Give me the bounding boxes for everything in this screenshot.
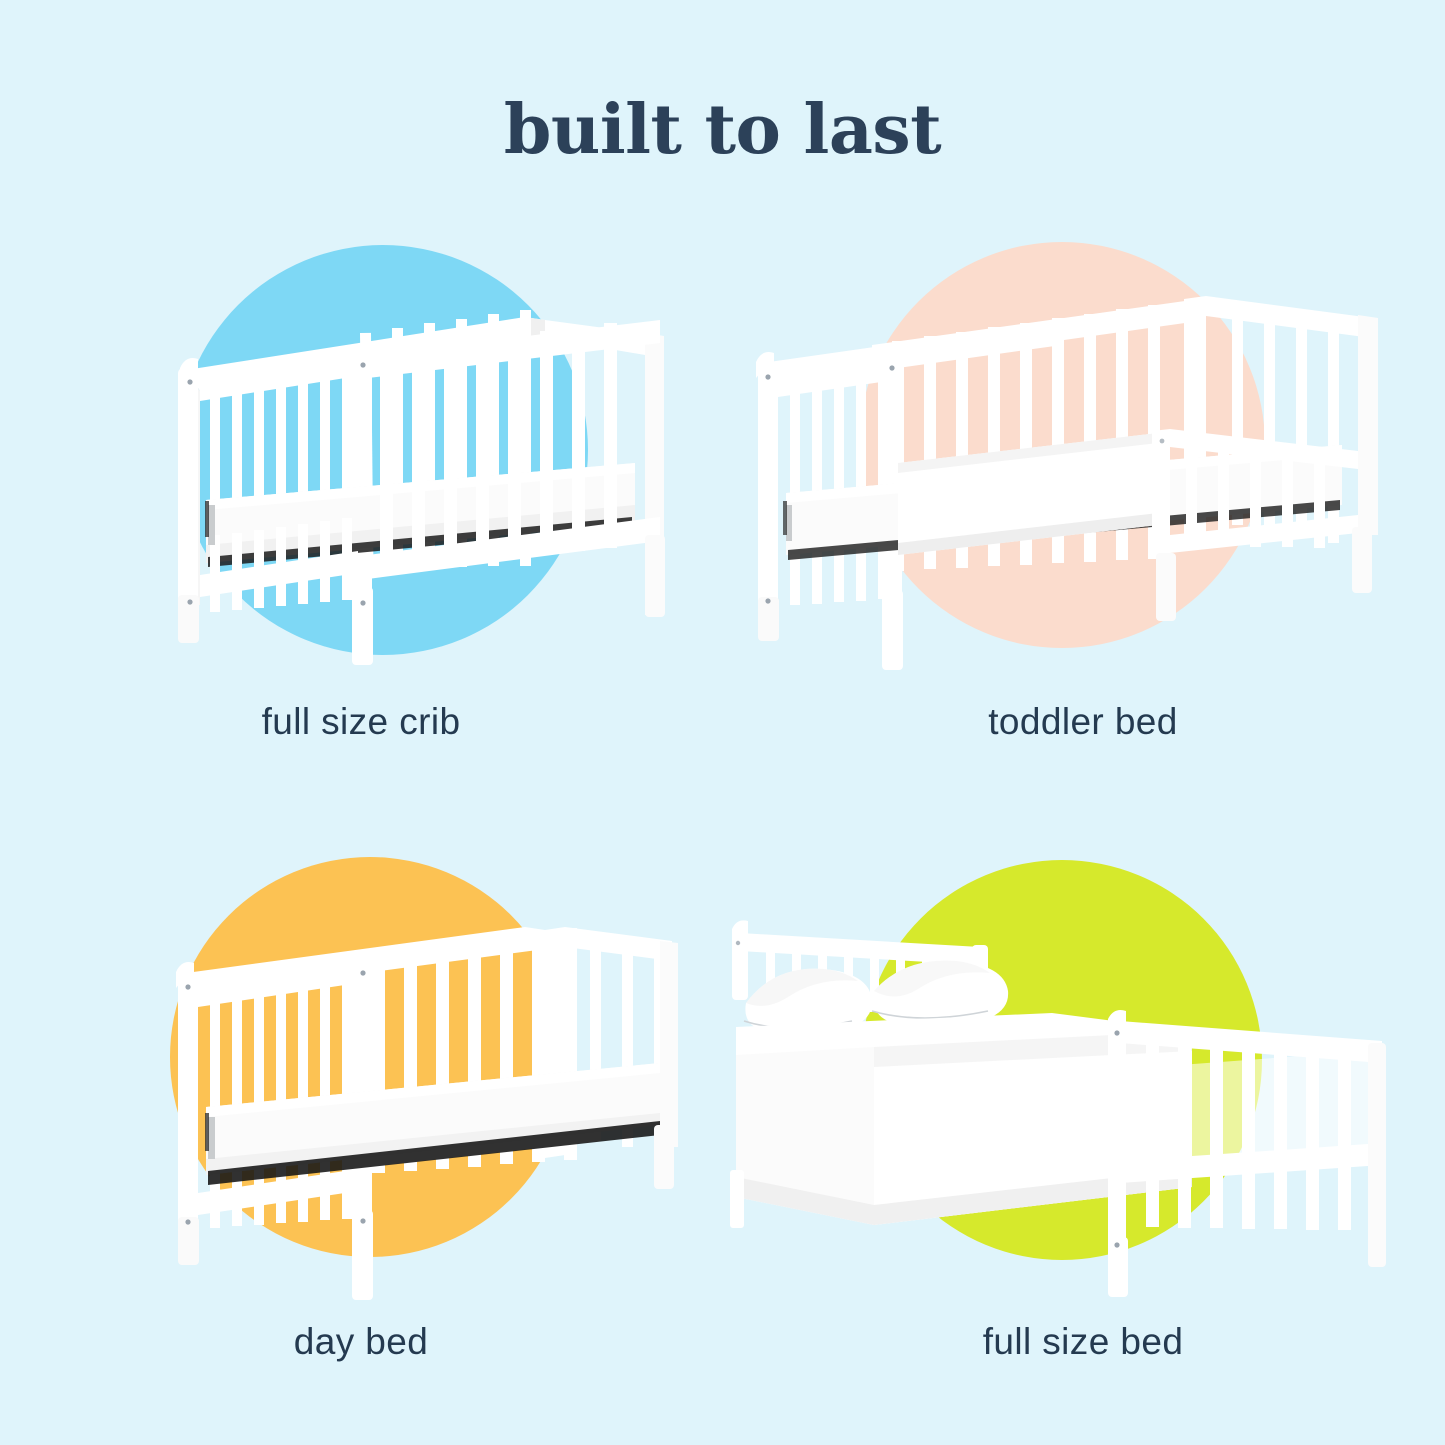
crib-icon	[0, 205, 722, 705]
product-cell-full-size-bed[interactable]: full size bed	[722, 825, 1444, 1435]
product-label-full-size-bed: full size bed	[722, 1320, 1444, 1364]
product-cell-full-size-crib[interactable]: full size crib	[0, 205, 722, 815]
product-cell-toddler-bed[interactable]: toddler bed	[722, 205, 1444, 815]
day-bed-icon	[0, 825, 722, 1325]
crib-leg-front-right	[352, 587, 373, 665]
product-grid: full size crib	[0, 205, 1445, 1445]
infographic-page: built to last	[0, 0, 1445, 1445]
toddler-bed-icon	[722, 205, 1444, 705]
left-end-post	[178, 368, 198, 618]
full-size-bed-icon	[722, 825, 1444, 1325]
crib-leg-back-right	[645, 535, 665, 617]
page-title: built to last	[0, 96, 1445, 164]
product-cell-day-bed[interactable]: day bed	[0, 825, 722, 1435]
product-label-toddler-bed: toddler bed	[722, 700, 1444, 744]
product-label-full-size-crib: full size crib	[0, 700, 722, 744]
product-label-day-bed: day bed	[0, 1320, 722, 1364]
